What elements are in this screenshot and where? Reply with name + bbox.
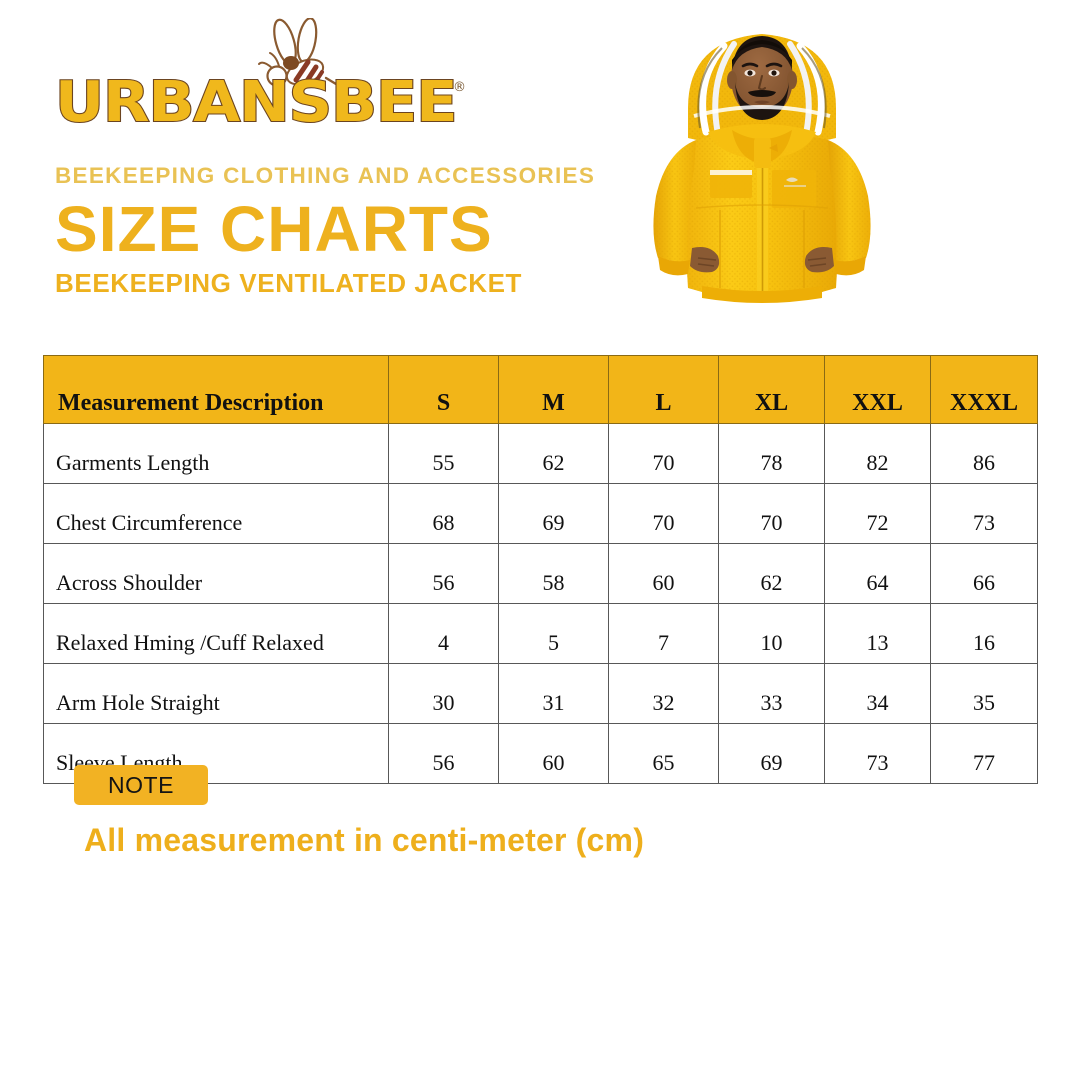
column-header-m: M bbox=[499, 356, 609, 424]
column-header-xxl: XXL bbox=[825, 356, 931, 424]
cell-value: 56 bbox=[389, 724, 499, 784]
row-label: Chest Circumference bbox=[44, 484, 389, 544]
brand-header: URBANSBEE ® BEEKEEPING CLOTHING AND ACCE… bbox=[55, 18, 615, 136]
cell-value: 60 bbox=[609, 544, 719, 604]
cell-value: 32 bbox=[609, 664, 719, 724]
cell-value: 86 bbox=[931, 424, 1038, 484]
table-row: Garments Length 55 62 70 78 82 86 bbox=[44, 424, 1038, 484]
cell-value: 30 bbox=[389, 664, 499, 724]
column-header-s: S bbox=[389, 356, 499, 424]
cell-value: 70 bbox=[609, 484, 719, 544]
cell-value: 65 bbox=[609, 724, 719, 784]
cell-value: 16 bbox=[931, 604, 1038, 664]
cell-value: 10 bbox=[719, 604, 825, 664]
table-header-row: Measurement Description S M L XL XXL XXX… bbox=[44, 356, 1038, 424]
cell-value: 82 bbox=[825, 424, 931, 484]
cell-value: 7 bbox=[609, 604, 719, 664]
page-title: SIZE CHARTS bbox=[55, 196, 493, 263]
column-header-description: Measurement Description bbox=[44, 356, 389, 424]
cell-value: 69 bbox=[719, 724, 825, 784]
cell-value: 64 bbox=[825, 544, 931, 604]
row-label: Relaxed Hming /Cuff Relaxed bbox=[44, 604, 389, 664]
table-row: Chest Circumference 68 69 70 70 72 73 bbox=[44, 484, 1038, 544]
product-subtitle: BEEKEEPING VENTILATED JACKET bbox=[55, 268, 522, 299]
cell-value: 73 bbox=[931, 484, 1038, 544]
cell-value: 68 bbox=[389, 484, 499, 544]
cell-value: 60 bbox=[499, 724, 609, 784]
cell-value: 66 bbox=[931, 544, 1038, 604]
cell-value: 58 bbox=[499, 544, 609, 604]
row-label: Arm Hole Straight bbox=[44, 664, 389, 724]
cell-value: 72 bbox=[825, 484, 931, 544]
cell-value: 31 bbox=[499, 664, 609, 724]
column-header-xl: XL bbox=[719, 356, 825, 424]
cell-value: 73 bbox=[825, 724, 931, 784]
cell-value: 78 bbox=[719, 424, 825, 484]
cell-value: 62 bbox=[719, 544, 825, 604]
cell-value: 4 bbox=[389, 604, 499, 664]
table-row: Across Shoulder 56 58 60 62 64 66 bbox=[44, 544, 1038, 604]
cell-value: 5 bbox=[499, 604, 609, 664]
cell-value: 13 bbox=[825, 604, 931, 664]
cell-value: 69 bbox=[499, 484, 609, 544]
column-header-xxxl: XXXL bbox=[931, 356, 1038, 424]
cell-value: 77 bbox=[931, 724, 1038, 784]
note-text: All measurement in centi-meter (cm) bbox=[84, 822, 644, 859]
cell-value: 56 bbox=[389, 544, 499, 604]
note-badge: NOTE bbox=[74, 765, 208, 805]
cell-value: 34 bbox=[825, 664, 931, 724]
cell-value: 70 bbox=[719, 484, 825, 544]
cell-value: 35 bbox=[931, 664, 1038, 724]
cell-value: 70 bbox=[609, 424, 719, 484]
registered-trademark-icon: ® bbox=[453, 80, 466, 95]
brand-wordmark: URBANSBEE bbox=[55, 74, 456, 130]
cell-value: 33 bbox=[719, 664, 825, 724]
product-photo bbox=[636, 20, 888, 320]
column-header-l: L bbox=[609, 356, 719, 424]
table-row: Relaxed Hming /Cuff Relaxed 4 5 7 10 13 … bbox=[44, 604, 1038, 664]
size-chart-table: Measurement Description S M L XL XXL XXX… bbox=[43, 355, 1037, 784]
table-row: Arm Hole Straight 30 31 32 33 34 35 bbox=[44, 664, 1038, 724]
brand-tagline: BEEKEEPING CLOTHING AND ACCESSORIES bbox=[55, 163, 595, 189]
cell-value: 55 bbox=[389, 424, 499, 484]
row-label: Across Shoulder bbox=[44, 544, 389, 604]
logo-lockup: URBANSBEE ® bbox=[55, 18, 615, 136]
cell-value: 62 bbox=[499, 424, 609, 484]
row-label: Garments Length bbox=[44, 424, 389, 484]
